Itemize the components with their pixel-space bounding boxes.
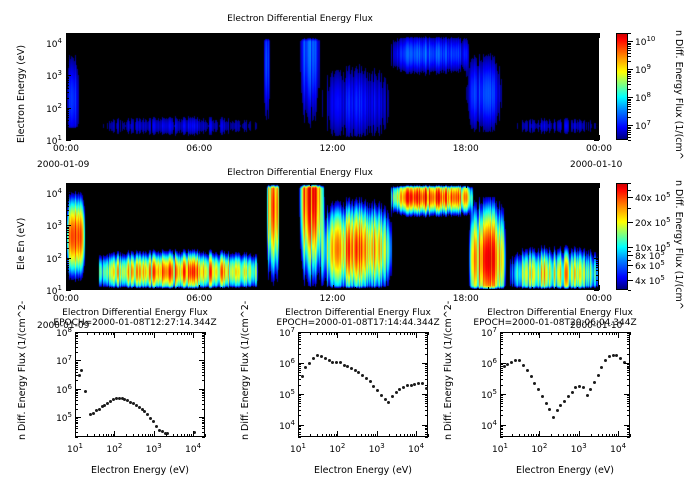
tick-mark — [66, 33, 67, 38]
data-point — [548, 408, 551, 411]
tick-mark — [87, 332, 88, 335]
tick-mark — [145, 434, 146, 437]
tick-mark — [567, 434, 568, 437]
x-tick-label: 102 — [324, 442, 350, 455]
y-tick-label: 103 — [36, 69, 62, 82]
tick-mark — [596, 270, 599, 271]
tick-mark — [500, 368, 503, 369]
tick-mark — [536, 434, 537, 437]
tick-mark — [596, 78, 599, 79]
tick-mark — [66, 78, 69, 79]
tick-mark — [322, 434, 323, 437]
tick-mark — [596, 56, 599, 57]
tick-mark — [599, 135, 600, 140]
tick-mark — [66, 230, 69, 231]
tick-mark — [628, 265, 631, 266]
tick-mark — [244, 33, 245, 36]
tick-mark — [596, 228, 599, 229]
tick-mark — [66, 232, 69, 233]
tick-mark — [425, 341, 428, 342]
tick-mark — [177, 287, 178, 290]
tick-mark — [66, 92, 69, 93]
data-point — [597, 374, 600, 377]
tick-mark — [598, 332, 599, 335]
tick-mark — [75, 390, 78, 391]
tick-mark — [177, 434, 178, 437]
tick-mark — [410, 434, 411, 437]
tick-mark — [596, 125, 599, 126]
tick-mark — [298, 415, 301, 416]
top-colorbar[interactable] — [616, 33, 628, 140]
tick-mark — [193, 332, 194, 335]
tick-mark — [512, 434, 513, 437]
tick-mark — [298, 379, 301, 380]
x-tick-label: 12:00 — [317, 294, 349, 304]
colorbar-tick-label: 1010 — [635, 35, 655, 48]
tick-mark — [628, 117, 631, 118]
tick-mark — [66, 280, 69, 281]
data-point — [600, 366, 603, 369]
tick-mark — [88, 183, 89, 186]
data-point — [320, 355, 323, 358]
tick-mark — [627, 415, 630, 416]
tick-mark — [425, 415, 428, 416]
tick-mark — [75, 367, 78, 368]
tick-mark — [66, 82, 69, 83]
tick-mark — [627, 370, 630, 371]
data-point — [533, 382, 536, 385]
x-tick-label: 06:00 — [183, 294, 215, 304]
top-spectrogram-plot[interactable] — [66, 33, 599, 140]
tick-mark — [627, 337, 630, 338]
tick-mark — [202, 420, 205, 421]
tick-mark — [377, 287, 378, 290]
tick-mark — [628, 69, 631, 70]
tick-mark — [533, 332, 534, 335]
tick-mark — [531, 332, 532, 335]
tick-mark — [627, 432, 630, 433]
tick-mark — [298, 403, 301, 404]
tick-mark — [202, 389, 205, 390]
data-point — [301, 375, 304, 378]
tick-mark — [94, 434, 95, 437]
tick-mark — [75, 426, 78, 427]
tick-mark — [177, 33, 178, 36]
data-point — [84, 390, 87, 393]
tick-mark — [627, 385, 630, 386]
tick-mark — [598, 434, 599, 437]
tick-mark — [573, 434, 574, 437]
tick-mark — [108, 434, 109, 437]
tick-mark — [612, 332, 613, 335]
tick-mark — [202, 392, 205, 393]
tick-mark — [630, 434, 631, 437]
tick-mark — [103, 332, 104, 335]
tick-mark — [75, 404, 78, 405]
tick-mark — [628, 71, 631, 72]
tick-mark — [75, 420, 78, 421]
middle-spectrogram-plot[interactable] — [66, 183, 599, 290]
data-point — [369, 380, 372, 383]
tick-mark — [407, 332, 408, 335]
tick-mark — [596, 196, 599, 197]
tick-mark — [425, 426, 428, 427]
tick-mark — [609, 434, 610, 437]
tick-mark — [317, 434, 318, 437]
tick-mark — [596, 267, 599, 268]
tick-mark — [333, 183, 334, 188]
tick-mark — [627, 335, 630, 336]
tick-mark — [66, 80, 69, 81]
tick-mark — [573, 332, 574, 335]
tick-mark — [627, 354, 630, 355]
tick-mark — [627, 437, 630, 438]
tick-mark — [108, 332, 109, 335]
tick-mark — [425, 401, 428, 402]
tick-mark — [298, 366, 301, 367]
tick-mark — [500, 344, 503, 345]
tick-mark — [66, 227, 69, 228]
tick-mark — [66, 135, 67, 140]
tick-mark — [66, 270, 69, 271]
tick-mark — [244, 287, 245, 290]
tick-mark — [628, 56, 631, 57]
spectrum-right-title: Electron Differential Energy Flux — [460, 308, 660, 318]
x-tick-label: 18:00 — [450, 294, 482, 304]
spectrum-middle-title: Electron Differential Energy Flux — [258, 308, 458, 318]
y-tick-label: 106 — [45, 383, 72, 396]
tick-mark — [628, 97, 631, 98]
tick-mark — [425, 364, 428, 365]
data-point — [372, 385, 375, 388]
tick-mark — [75, 418, 78, 419]
tick-mark — [425, 366, 428, 367]
spectrum-right-plot[interactable] — [500, 332, 630, 437]
tick-mark — [425, 395, 428, 396]
tick-mark — [66, 210, 69, 211]
tick-mark — [577, 33, 578, 36]
x-tick-label: 00:00 — [583, 144, 615, 154]
tick-mark — [596, 85, 599, 86]
tick-mark — [628, 109, 631, 110]
tick-mark — [421, 287, 422, 290]
data-point — [582, 386, 585, 389]
tick-mark — [628, 222, 631, 223]
data-point — [563, 400, 566, 403]
tick-mark — [596, 60, 599, 61]
tick-mark — [126, 332, 127, 335]
tick-mark — [628, 190, 631, 191]
data-point — [541, 395, 544, 398]
tick-mark — [298, 370, 301, 371]
tick-mark — [75, 362, 78, 363]
tick-mark — [221, 33, 222, 36]
tick-mark — [66, 120, 69, 121]
data-point — [571, 391, 574, 394]
tick-mark — [425, 410, 428, 411]
tick-mark — [244, 183, 245, 186]
tick-mark — [66, 109, 69, 110]
tick-mark — [298, 372, 301, 373]
tick-mark — [488, 183, 489, 186]
tick-mark — [355, 33, 356, 36]
tick-mark — [528, 434, 529, 437]
data-point — [417, 382, 420, 385]
tick-mark — [512, 332, 513, 335]
tick-mark — [628, 48, 631, 49]
tick-mark — [594, 290, 599, 291]
tick-mark — [425, 375, 428, 376]
tick-mark — [570, 434, 571, 437]
tick-mark — [618, 332, 619, 335]
tick-mark — [627, 366, 630, 367]
data-point — [149, 417, 152, 420]
data-point — [395, 391, 398, 394]
tick-mark — [596, 259, 599, 260]
tick-mark — [142, 434, 143, 437]
tick-mark — [500, 426, 503, 427]
tick-mark — [500, 372, 503, 373]
y-tick-label: 107 — [470, 326, 497, 339]
spectrum-right-xlabel: Electron Energy (eV) — [500, 465, 630, 476]
data-point — [357, 371, 360, 374]
tick-mark — [404, 434, 405, 437]
tick-mark — [150, 434, 151, 437]
tick-mark — [66, 53, 69, 54]
tick-mark — [563, 434, 564, 437]
tick-mark — [66, 215, 69, 216]
data-point — [308, 362, 311, 365]
tick-mark — [628, 127, 631, 128]
data-point — [350, 367, 353, 370]
tick-mark — [628, 272, 631, 273]
data-point — [413, 383, 416, 386]
tick-mark — [400, 434, 401, 437]
tick-mark — [532, 137, 533, 140]
data-point — [526, 369, 529, 372]
tick-mark — [66, 46, 69, 47]
tick-mark — [425, 437, 428, 438]
tick-mark — [627, 403, 630, 404]
tick-mark — [377, 332, 378, 335]
tick-mark — [396, 434, 397, 437]
tick-mark — [66, 263, 69, 264]
tick-mark — [329, 332, 330, 335]
data-point — [514, 359, 517, 362]
tick-mark — [399, 287, 400, 290]
tick-mark — [425, 403, 428, 404]
tick-mark — [596, 242, 599, 243]
tick-mark — [628, 247, 631, 248]
tick-mark — [421, 137, 422, 140]
tick-mark — [628, 208, 631, 209]
data-point — [522, 364, 525, 367]
tick-mark — [599, 285, 600, 290]
tick-mark — [202, 372, 205, 373]
tick-mark — [599, 183, 600, 188]
tick-mark — [596, 48, 599, 49]
tick-mark — [596, 275, 599, 276]
y-tick-label: 104 — [36, 37, 62, 50]
tick-mark — [75, 423, 78, 424]
tick-mark — [628, 125, 631, 126]
tick-mark — [66, 242, 69, 243]
tick-mark — [627, 364, 630, 365]
tick-mark — [202, 362, 205, 363]
tick-mark — [66, 248, 69, 249]
tick-mark — [628, 260, 631, 261]
tick-mark — [75, 372, 78, 373]
tick-mark — [500, 394, 503, 395]
tick-mark — [221, 137, 222, 140]
x-tick-label: 104 — [180, 442, 206, 455]
tick-mark — [298, 437, 301, 438]
tick-mark — [596, 210, 599, 211]
tick-mark — [567, 332, 568, 335]
tick-mark — [355, 287, 356, 290]
data-point — [78, 374, 81, 377]
tick-mark — [310, 33, 311, 36]
tick-mark — [298, 395, 301, 396]
tick-mark — [627, 344, 630, 345]
tick-mark — [114, 332, 115, 335]
tick-mark — [628, 76, 631, 77]
tick-mark — [202, 426, 205, 427]
spectrum-middle-xlabel: Electron Energy (eV) — [298, 465, 428, 476]
data-point — [619, 357, 622, 360]
tick-mark — [539, 332, 540, 335]
spectrum-left-plot[interactable] — [75, 332, 205, 437]
tick-mark — [199, 183, 200, 188]
tick-mark — [500, 434, 501, 437]
middle-colorbar[interactable] — [616, 183, 628, 290]
tick-mark — [166, 332, 167, 335]
tick-mark — [355, 183, 356, 186]
tick-mark — [202, 336, 205, 337]
tick-mark — [425, 368, 428, 369]
tick-mark — [596, 203, 599, 204]
tick-mark — [75, 393, 78, 394]
data-point — [604, 359, 607, 362]
tick-mark — [66, 206, 69, 207]
tick-mark — [466, 33, 467, 38]
tick-mark — [202, 418, 205, 419]
tick-mark — [298, 341, 301, 342]
tick-mark — [377, 33, 378, 36]
tick-mark — [202, 437, 205, 438]
tick-mark — [365, 332, 366, 335]
data-point — [530, 375, 533, 378]
tick-mark — [371, 434, 372, 437]
spectrum-right-ylabel: n Diff. Energy Flux (1/(cm^2- — [443, 301, 454, 440]
tick-mark — [628, 43, 631, 44]
tick-mark — [99, 434, 100, 437]
tick-mark — [66, 261, 69, 262]
data-point — [335, 361, 338, 364]
tick-mark — [555, 287, 556, 290]
tick-mark — [133, 332, 134, 335]
tick-mark — [75, 365, 78, 366]
tick-mark — [133, 287, 134, 290]
data-point — [589, 388, 592, 391]
tick-mark — [110, 137, 111, 140]
tick-mark — [425, 363, 428, 364]
tick-mark — [326, 434, 327, 437]
tick-mark — [377, 183, 378, 186]
tick-mark — [577, 137, 578, 140]
tick-mark — [425, 354, 428, 355]
tick-mark — [154, 434, 155, 437]
tick-mark — [322, 332, 323, 335]
spectrum-left-ylabel: n Diff. Energy Flux (1/(cm^2- — [17, 301, 28, 440]
tick-mark — [628, 72, 631, 73]
data-point — [545, 402, 548, 405]
tick-mark — [75, 397, 78, 398]
tick-mark — [389, 332, 390, 335]
tick-mark — [114, 434, 115, 437]
tick-mark — [596, 215, 599, 216]
tick-mark — [627, 395, 630, 396]
tick-mark — [444, 33, 445, 36]
top-panel-title: Electron Differential Energy Flux — [0, 14, 600, 24]
tick-mark — [66, 88, 69, 89]
data-point — [376, 389, 379, 392]
middle-panel-title: Electron Differential Energy Flux — [0, 168, 600, 178]
tick-mark — [202, 404, 205, 405]
tick-mark — [416, 434, 417, 437]
tick-mark — [444, 183, 445, 186]
tick-mark — [425, 339, 428, 340]
tick-mark — [66, 111, 69, 112]
tick-mark — [361, 332, 362, 335]
tick-mark — [596, 235, 599, 236]
tick-mark — [606, 434, 607, 437]
data-point — [578, 385, 581, 388]
tick-mark — [111, 332, 112, 335]
tick-mark — [310, 137, 311, 140]
tick-mark — [524, 332, 525, 335]
tick-mark — [596, 46, 599, 47]
tick-mark — [627, 348, 630, 349]
tick-mark — [202, 352, 205, 353]
data-point — [402, 386, 405, 389]
tick-mark — [266, 33, 267, 36]
tick-mark — [510, 33, 511, 36]
y-tick-label: 106 — [470, 357, 497, 370]
tick-mark — [628, 106, 631, 107]
tick-mark — [628, 44, 631, 45]
tick-mark — [425, 370, 428, 371]
spectrum-middle-plot[interactable] — [298, 332, 428, 437]
tick-mark — [500, 415, 503, 416]
tick-mark — [288, 183, 289, 186]
data-point — [365, 377, 368, 380]
tick-mark — [591, 332, 592, 335]
tick-mark — [551, 434, 552, 437]
colorbar-tick-label: 107 — [635, 119, 651, 132]
tick-mark — [630, 332, 631, 335]
tick-mark — [628, 41, 631, 42]
tick-mark — [399, 183, 400, 186]
middle-colorbar-label: n Diff. Energy Flux (1/(cm^ — [673, 180, 684, 310]
tick-mark — [349, 434, 350, 437]
tick-mark — [202, 397, 205, 398]
colorbar-tick-label: 20x 105 — [635, 216, 671, 229]
tick-mark — [205, 434, 206, 437]
tick-mark — [627, 363, 630, 364]
colorbar-tick-label: 10x 105 — [635, 241, 671, 254]
tick-mark — [202, 369, 205, 370]
